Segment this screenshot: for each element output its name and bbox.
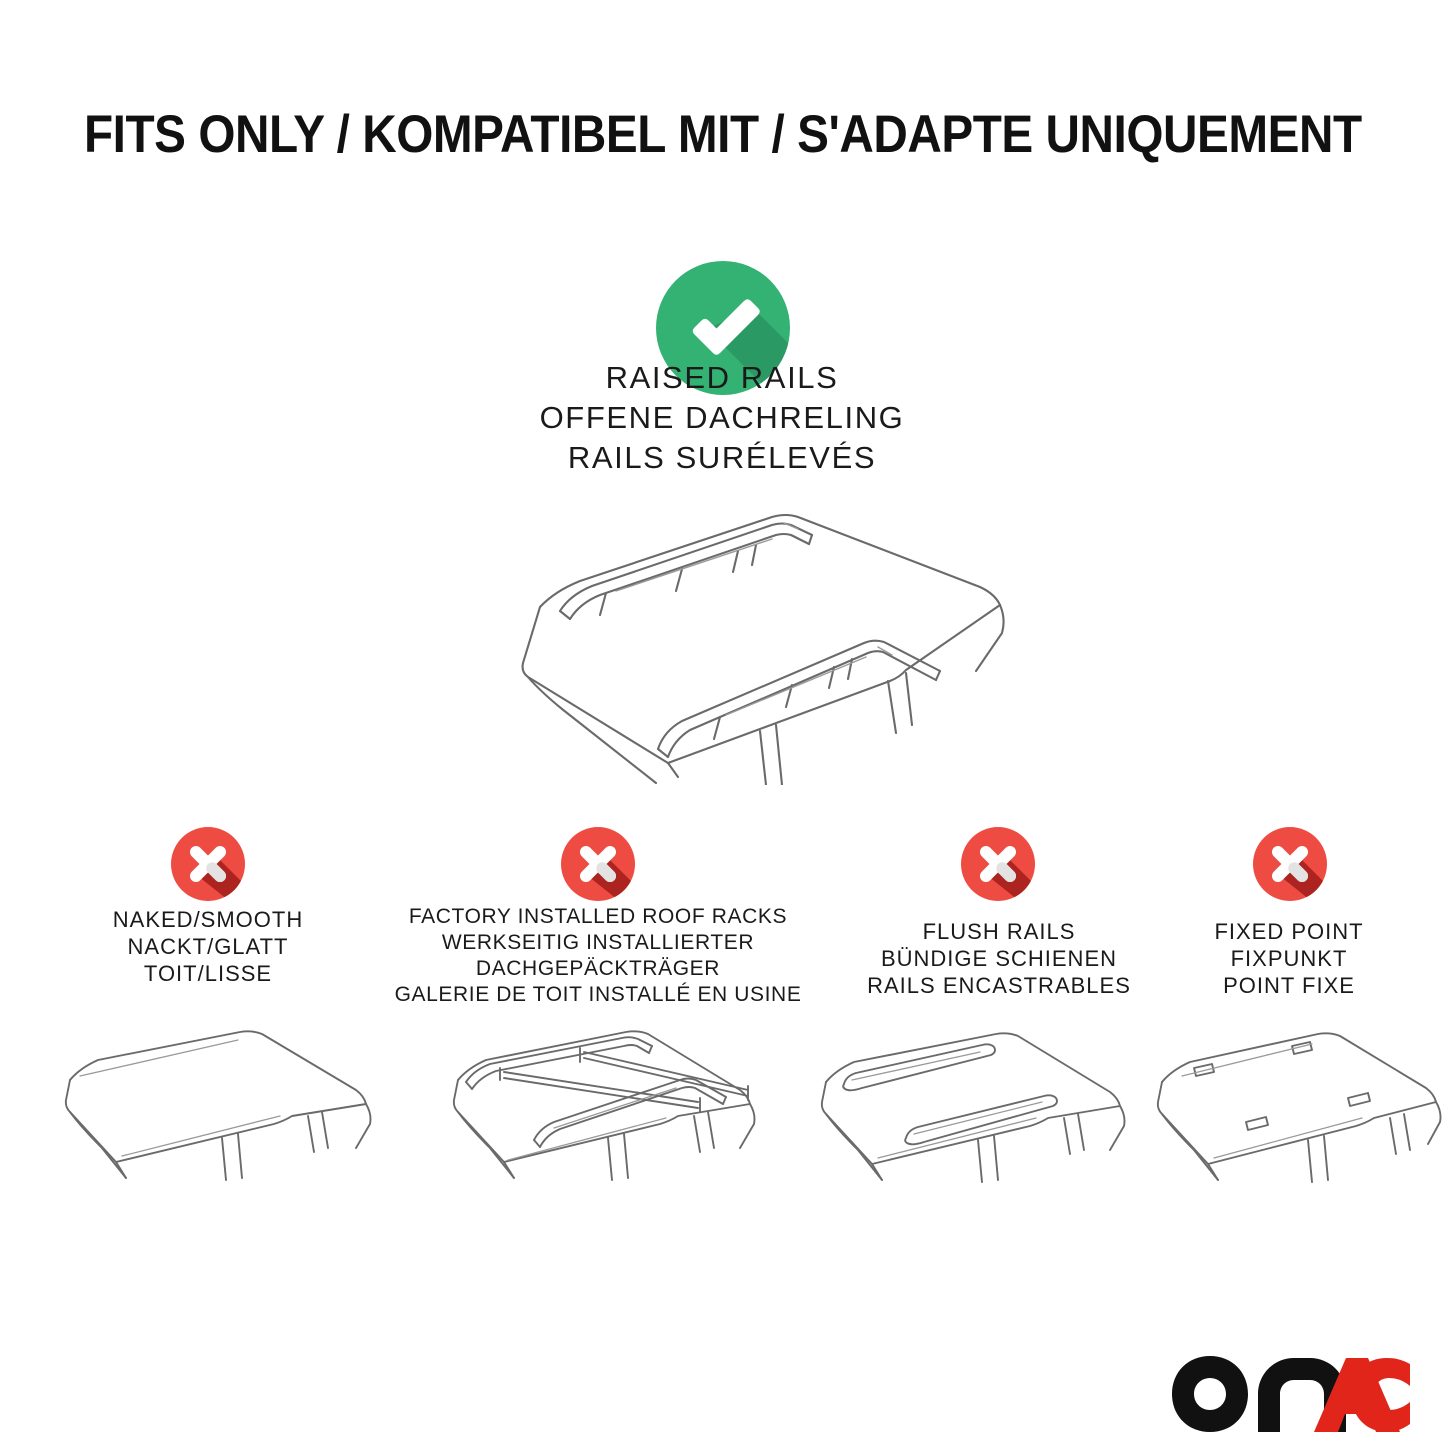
omac-logo <box>1168 1352 1410 1438</box>
compatible-label-line-1: RAISED RAILS <box>372 358 1072 398</box>
label-line: NACKT/GLATT <box>30 933 386 960</box>
incompatible-label-naked-smooth: NAKED/SMOOTH NACKT/GLATT TOIT/LISSE <box>30 906 386 987</box>
incompatible-label-flush-rails: FLUSH RAILS BÜNDIGE SCHIENEN RAILS ENCAS… <box>828 918 1170 999</box>
cross-circle-icon <box>958 824 1038 904</box>
car-roof-fixed-point-illustration <box>1142 1026 1442 1244</box>
label-line: FIXED POINT <box>1128 918 1445 945</box>
car-roof-flush-rails-illustration <box>782 1026 1142 1244</box>
label-line: DACHGEPÄCKTRÄGER <box>370 956 826 982</box>
compatible-label-line-3: RAILS SURÉLEVÉS <box>372 438 1072 478</box>
car-roof-factory-roof-racks-illustration <box>408 1018 768 1243</box>
incompatible-label-factory-roof-racks: FACTORY INSTALLED ROOF RACKS WERKSEITIG … <box>370 904 826 1008</box>
label-line: GALERIE DE TOIT INSTALLÉ EN USINE <box>370 982 826 1008</box>
label-line: BÜNDIGE SCHIENEN <box>828 945 1170 972</box>
compatible-label-line-2: OFFENE DACHRELING <box>372 398 1072 438</box>
label-line: POINT FIXE <box>1128 972 1445 999</box>
page-title: FITS ONLY / KOMPATIBEL MIT / S'ADAPTE UN… <box>0 104 1445 165</box>
label-line: FACTORY INSTALLED ROOF RACKS <box>370 904 826 930</box>
compatible-label: RAISED RAILS OFFENE DACHRELING RAILS SUR… <box>372 358 1072 478</box>
car-roof-naked-smooth-illustration <box>26 1028 386 1243</box>
label-line: TOIT/LISSE <box>30 960 386 987</box>
label-line: FIXPUNKT <box>1128 945 1445 972</box>
label-line: FLUSH RAILS <box>828 918 1170 945</box>
label-line: NAKED/SMOOTH <box>30 906 386 933</box>
incompatible-label-fixed-point: FIXED POINT FIXPUNKT POINT FIXE <box>1128 918 1445 999</box>
cross-circle-icon <box>1250 824 1330 904</box>
compatibility-infographic: FITS ONLY / KOMPATIBEL MIT / S'ADAPTE UN… <box>0 0 1445 1445</box>
car-roof-raised-rails-illustration <box>420 495 1040 785</box>
label-line: RAILS ENCASTRABLES <box>828 972 1170 999</box>
cross-circle-icon <box>558 824 638 904</box>
label-line: WERKSEITIG INSTALLIERTER <box>370 930 826 956</box>
page-title-text: FITS ONLY / KOMPATIBEL MIT / S'ADAPTE UN… <box>84 104 1362 165</box>
cross-circle-icon <box>168 824 248 904</box>
